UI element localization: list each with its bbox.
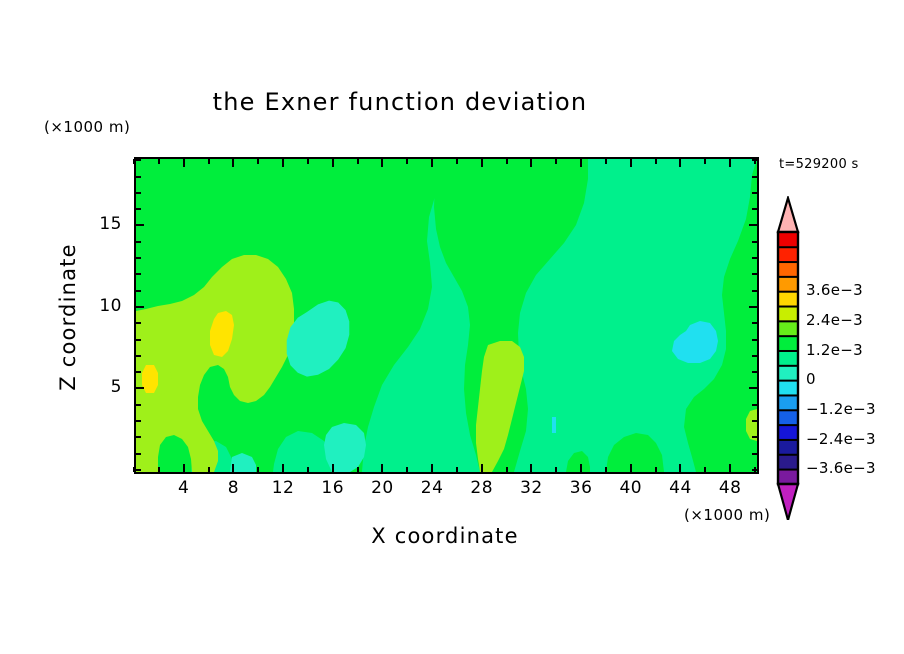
x-tick-label: 16 [313, 478, 353, 498]
colorbar-band[interactable] [778, 336, 798, 351]
x-axis-unit-label: (×1000 m) [684, 506, 770, 524]
colorbar-band[interactable] [778, 291, 798, 306]
colorbar-band[interactable] [778, 454, 798, 469]
y-tick-label: 15 [82, 214, 122, 234]
colorbar-band[interactable] [778, 425, 798, 440]
x-tick-label: 8 [213, 478, 253, 498]
page-title: the Exner function deviation [0, 88, 800, 116]
colorbar-tick-label: −1.2e−3 [806, 400, 876, 418]
x-tick-label: 40 [611, 478, 651, 498]
y-tick-label: 5 [82, 377, 122, 397]
figure-canvas: the Exner function deviation (×1000 m) [0, 0, 904, 654]
z-axis-title: Z coordinate [56, 217, 80, 417]
colorbar-band[interactable] [778, 276, 798, 291]
colorbar-tick-label: 3.6e−3 [806, 281, 863, 299]
x-tick-label: 48 [710, 478, 750, 498]
colorbar-band[interactable] [778, 262, 798, 277]
field-yellow-core-b [142, 365, 158, 393]
contour-plot-panel [134, 157, 759, 474]
colorbar-band[interactable] [778, 351, 798, 366]
field-cyan-strip [552, 417, 556, 433]
colorbar-tick-label: −3.6e−3 [806, 459, 876, 477]
contour-field [136, 159, 757, 472]
x-tick-label: 36 [561, 478, 601, 498]
colorbar-over-arrow [778, 198, 798, 232]
y-tick-label: 10 [82, 296, 122, 316]
colorbar-tick-label: 0 [806, 370, 816, 388]
colorbar-tick-label: −2.4e−3 [806, 430, 876, 448]
x-tick-label: 44 [660, 478, 700, 498]
colorbar-band[interactable] [778, 321, 798, 336]
colorbar-band[interactable] [778, 380, 798, 395]
colorbar-band[interactable] [778, 306, 798, 321]
x-tick-label: 20 [362, 478, 402, 498]
colorbar-band[interactable] [778, 395, 798, 410]
y-axis-unit-label: (×1000 m) [44, 118, 130, 136]
x-tick-label: 12 [263, 478, 303, 498]
x-tick-label: 24 [412, 478, 452, 498]
x-tick-label: 32 [511, 478, 551, 498]
colorbar-band[interactable] [778, 232, 798, 247]
colorbar-band[interactable] [778, 410, 798, 425]
x-tick-label: 4 [164, 478, 204, 498]
colorbar-under-arrow [778, 484, 798, 520]
colorbar[interactable]: 3.6e−32.4e−31.2e−30−1.2e−3−2.4e−3−3.6e−3 [772, 196, 818, 520]
colorbar-band[interactable] [778, 365, 798, 380]
colorbar-band[interactable] [778, 440, 798, 455]
x-axis-title: X coordinate [255, 524, 635, 548]
colorbar-band[interactable] [778, 469, 798, 484]
time-stamp: t=529200 s [779, 157, 859, 172]
colorbar-tick-label: 2.4e−3 [806, 311, 863, 329]
x-tick-label: 28 [462, 478, 502, 498]
colorbar-band[interactable] [778, 247, 798, 262]
colorbar-tick-label: 1.2e−3 [806, 341, 863, 359]
